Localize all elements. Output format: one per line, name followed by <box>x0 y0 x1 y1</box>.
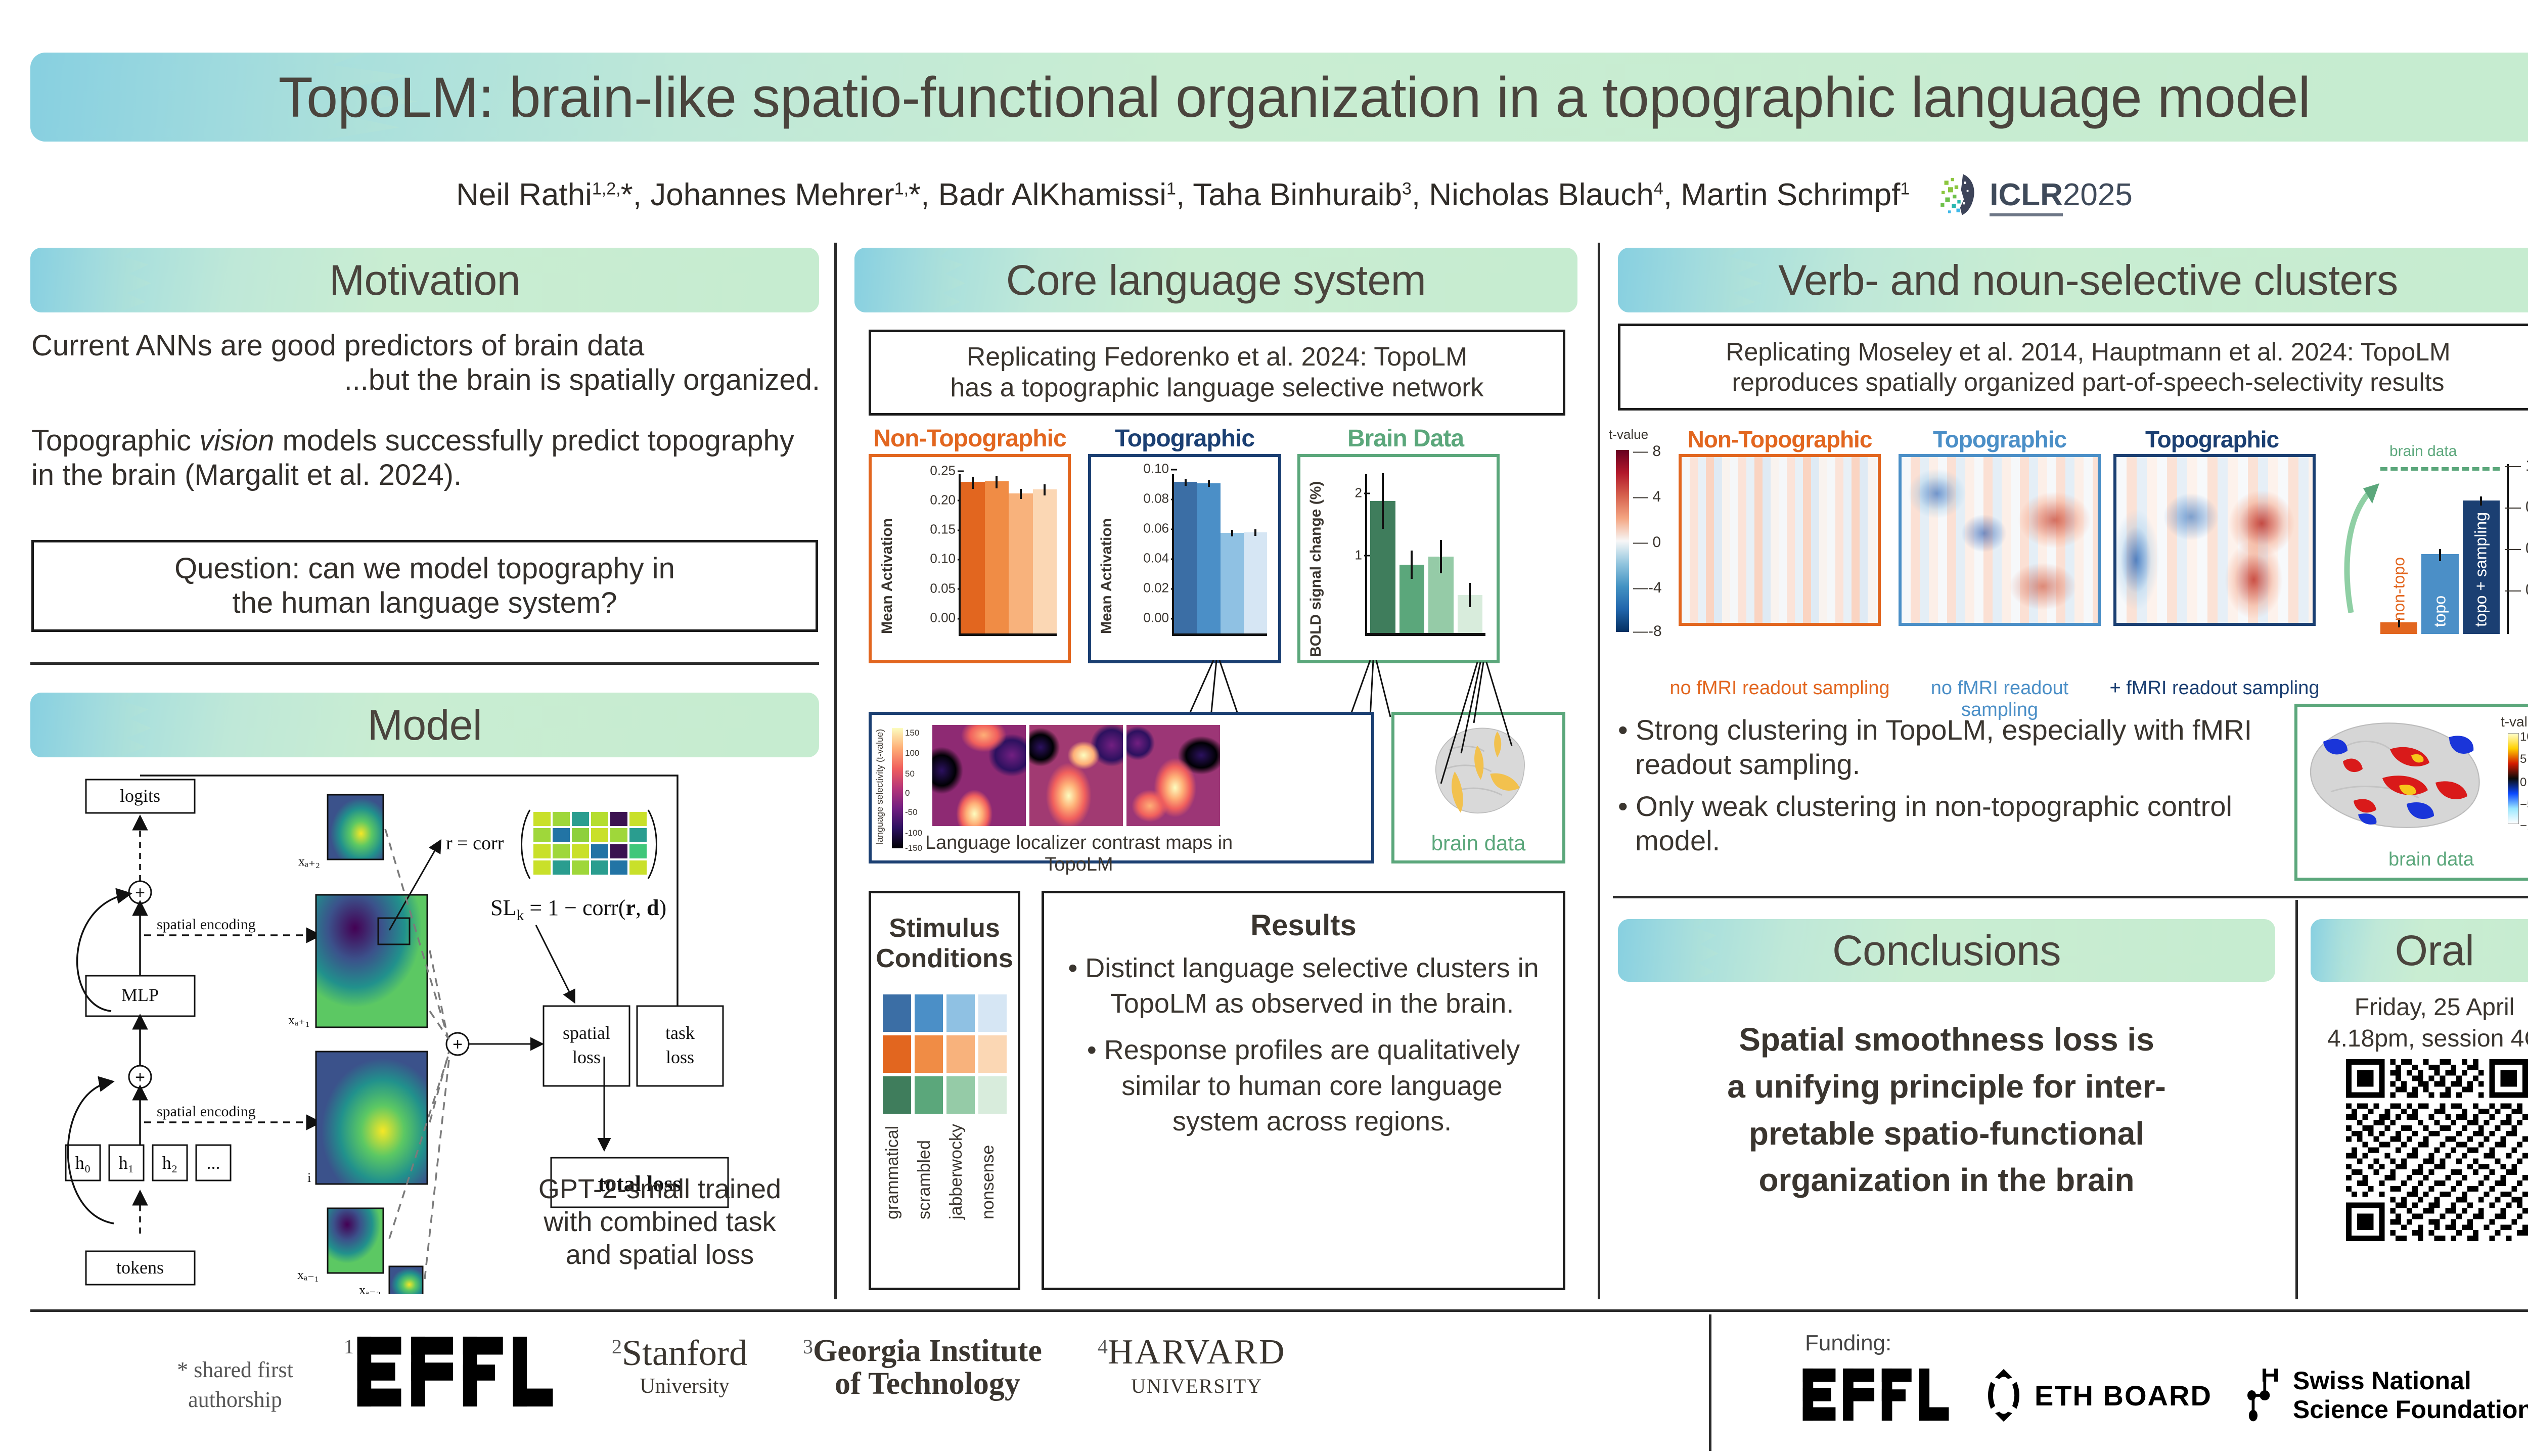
bar <box>1458 595 1483 633</box>
svg-text:+: + <box>135 883 145 902</box>
verbnoun-caption-toposamp: + fMRI readout sampling <box>2108 677 2321 699</box>
svg-text:spatial encoding: spatial encoding <box>157 916 256 933</box>
conclusions-line3: pretable spatio-functional <box>1618 1110 2275 1157</box>
swatch <box>978 994 1007 1032</box>
stimulus-conditions-box: Stimulus Conditions grammatical scramble… <box>869 891 1020 1290</box>
eth-board-label: ETH BOARD <box>2035 1379 2212 1412</box>
svg-text:xₐ₊₁: xₐ₊₁ <box>288 1013 310 1027</box>
model-header: Model <box>30 693 819 757</box>
ytick: 0.20 <box>930 492 956 508</box>
verbnoun-heatmap-nontopo <box>1679 454 1881 626</box>
results-bullet: • Distinct language selective clusters i… <box>1062 950 1545 1021</box>
swatch <box>883 1035 911 1073</box>
verbnoun-colorbar <box>1616 450 1629 632</box>
stimulus-title-line2: Conditions <box>876 944 1013 974</box>
ytick: 0.05 <box>930 580 956 596</box>
core-panel-label-nontopo: Non-Topographic <box>856 425 1084 452</box>
svg-text:h₂: h₂ <box>162 1153 178 1173</box>
conclusions-line2: a unifying principle for inter- <box>1618 1063 2275 1110</box>
snsf-network-icon <box>2242 1365 2283 1426</box>
conclusions-body: Spatial smoothness loss is a unifying pr… <box>1618 1016 2275 1204</box>
iclr-brain-icon <box>1936 171 1982 218</box>
iclr-label: ICLR2025 <box>1990 177 2133 213</box>
eth-board-diamond-icon <box>1982 1368 2025 1423</box>
conclusions-line1: Spatial smoothness loss is <box>1618 1016 2275 1063</box>
bar <box>1174 482 1197 633</box>
autocorr-brain-ref-label: brain data <box>2389 443 2457 460</box>
bar: topo + sampling <box>2463 500 2500 634</box>
svg-text:r = corr: r = corr <box>446 833 504 854</box>
conclusions-header: Conclusions <box>1618 919 2275 982</box>
core-heading: Core language system <box>1006 256 1426 305</box>
motivation-body: Current ANNs are good predictors of brai… <box>31 329 820 492</box>
verbnoun-brain-caption: brain data <box>2388 849 2474 871</box>
snsf-line2: Science Foundation <box>2293 1395 2528 1425</box>
results-bullet: • Response profiles are qualitatively si… <box>1062 1032 1545 1139</box>
svg-text:xₐ₊₂: xₐ₊₂ <box>298 854 320 869</box>
model-heading: Model <box>368 701 482 750</box>
autocorr-bars: non-topo topo topo + sampling <box>2380 467 2500 634</box>
core-header: Core language system <box>854 248 1577 312</box>
footer-affiliations: 1 2 Stanford University 3 Georgia Instit… <box>344 1335 1658 1410</box>
verbnoun-claim-line2: reproduces spatially organized part-of-s… <box>1732 367 2445 397</box>
svg-text:loss: loss <box>572 1047 601 1067</box>
bar <box>1197 483 1221 633</box>
verbnoun-colorbar-label: t-value <box>1609 427 1648 442</box>
question-line1: Question: can we model topography in <box>174 552 675 586</box>
motivation-para1-line1: Current ANNs are good predictors of brai… <box>31 329 820 363</box>
model-caption-line3: and spatial loss <box>513 1239 806 1271</box>
svg-text:SLk = 1 − corr(r, d): SLk = 1 − corr(r, d) <box>490 895 666 924</box>
footer-divider <box>30 1309 2528 1312</box>
motivation-para1: Current ANNs are good predictors of brai… <box>31 329 820 397</box>
bar <box>1244 532 1267 633</box>
conclusions-oral-divider <box>2295 900 2298 1299</box>
author-list: Neil Rathi1,2,*, Johannes Mehrer1,*, Bad… <box>0 167 2528 222</box>
column-divider-left <box>834 243 837 1299</box>
svg-text:spatial encoding: spatial encoding <box>157 1103 256 1120</box>
footer-funders: ETH BOARD Swiss National Science Foundat… <box>1800 1365 2528 1426</box>
question-line2: the human language system? <box>233 586 617 620</box>
verbnoun-caption-nontopo: no fMRI readout sampling <box>1668 677 1891 699</box>
bar <box>1009 493 1033 633</box>
verbnoun-bullet: • Strong clustering in TopoLM, especiall… <box>1618 713 2255 782</box>
core-brain-caption: brain data <box>1394 831 1562 855</box>
svg-text:+: + <box>135 1068 145 1087</box>
affiliation-name: Georgia Institute <box>813 1335 1042 1368</box>
svg-text:+: + <box>453 1035 463 1054</box>
chart-topo-ylabel: Mean Activation <box>1098 482 1115 634</box>
bar <box>1033 489 1057 633</box>
affiliation-epfl: 1 <box>344 1335 556 1410</box>
conclusions-heading: Conclusions <box>1832 926 2061 975</box>
condition-label: grammatical <box>883 1124 911 1219</box>
motivation-para2-pre: Topographic <box>31 424 199 457</box>
snsf-logo: Swiss National Science Foundation <box>2242 1365 2528 1426</box>
swatch <box>915 994 943 1032</box>
chart-topo-activation: Mean Activation 0.00 0.02 0.04 0.06 0.08… <box>1088 454 1281 663</box>
core-results-box: Results • Distinct language selective cl… <box>1042 891 1565 1290</box>
conclusions-line4: organization in the brain <box>1618 1157 2275 1204</box>
svg-text:MLP: MLP <box>121 985 159 1005</box>
model-caption: GPT-2-small trained with combined task a… <box>513 1173 806 1271</box>
verbnoun-claim-line1: Replicating Moseley et al. 2014, Hauptma… <box>1726 337 2450 367</box>
verbnoun-label-topo: Topographic <box>1901 426 2098 453</box>
affiliation-sub: UNIVERSITY <box>1108 1374 1286 1398</box>
svg-text:loss: loss <box>666 1047 694 1067</box>
verbnoun-bullets: • Strong clustering in TopoLM, especiall… <box>1618 713 2255 858</box>
footer-funding-label: Funding: <box>1805 1331 1891 1356</box>
svg-text:task: task <box>665 1023 695 1043</box>
epfl-funder-logo-icon <box>1800 1367 1952 1424</box>
chart-spatial-autocorrelation: brain data non-topo topo topo + sampling… <box>2346 445 2528 647</box>
swatch <box>883 1076 911 1114</box>
model-caption-line1: GPT-2-small trained <box>513 1173 806 1206</box>
ytick: 0.10 <box>930 551 956 567</box>
bar-label: topo <box>2430 596 2449 627</box>
core-claim-line1: Replicating Fedorenko et al. 2024: TopoL… <box>967 342 1468 373</box>
bar: non-topo <box>2380 622 2417 634</box>
localizer-map-3 <box>1126 725 1220 826</box>
affiliation-georgia-tech: 3 Georgia Institute of Technology <box>803 1335 1042 1400</box>
swatch <box>915 1076 943 1114</box>
epfl-logo-icon <box>354 1335 556 1410</box>
svg-text:...: ... <box>207 1153 220 1173</box>
affiliation-harvard: 4 HARVARD UNIVERSITY <box>1098 1335 1286 1398</box>
ytick: 0.15 <box>930 522 956 537</box>
stimulus-condition-labels: grammatical scrambled jabberwocky nonsen… <box>883 1124 1007 1219</box>
swatch <box>946 1035 975 1073</box>
chart-nontopo-ylabel: Mean Activation <box>879 482 896 634</box>
svg-text:h₀: h₀ <box>75 1153 91 1173</box>
chart-nontopo-activation: Mean Activation 0.00 0.05 0.10 0.15 0.20… <box>869 454 1071 663</box>
verbnoun-brain-colorbar-ticks: 105 0−5 −10 <box>2520 730 2528 826</box>
condition-label: jabberwocky <box>946 1124 975 1219</box>
shared-line1: * shared first <box>152 1355 319 1385</box>
bar <box>985 481 1009 633</box>
motivation-question-box: Question: can we model topography in the… <box>31 540 818 632</box>
ytick: 2 <box>1355 485 1362 500</box>
verbnoun-colorbar-ticks: — 8— 4 — 0—-4 —-8 <box>1633 450 1668 632</box>
verbnoun-claim-box: Replicating Moseley et al. 2014, Hauptma… <box>1618 324 2528 411</box>
stimulus-title-line1: Stimulus <box>889 914 1000 944</box>
poster-title-banner: TopoLM: brain-like spatio-functional org… <box>30 53 2528 142</box>
swatch <box>883 994 911 1032</box>
ytick: 0.04 <box>1143 551 1169 566</box>
model-diagram: logits MLP tokens h₀ h₁ h₂ ... ++ ++ <box>35 768 819 1294</box>
autocorr-green-arrow-icon <box>2341 463 2386 615</box>
footer-vertical-divider <box>1709 1314 1711 1451</box>
results-title: Results <box>1062 908 1545 942</box>
svg-text:i: i <box>307 1170 311 1185</box>
svg-text:spatial: spatial <box>563 1023 610 1043</box>
motivation-header: Motivation <box>30 248 819 312</box>
oral-date: Friday, 25 April <box>2311 992 2528 1023</box>
localizer-colorbar <box>892 728 903 848</box>
authors-text: Neil Rathi1,2,*, Johannes Mehrer1,*, Bad… <box>456 177 1910 213</box>
motivation-para2: Topographic vision models successfully p… <box>31 424 820 492</box>
page-title: TopoLM: brain-like spatio-functional org… <box>279 65 2311 130</box>
verbnoun-brain-tvalue-label: t-value <box>2501 714 2528 730</box>
verbnoun-heading: Verb- and noun-selective clusters <box>1778 256 2398 305</box>
chart-topo-plot: 0.00 0.02 0.04 0.06 0.08 0.10 <box>1172 474 1267 636</box>
bar: topo <box>2421 554 2458 634</box>
affiliation-sub: of Technology <box>813 1368 1042 1400</box>
motivation-model-divider <box>30 662 819 665</box>
column-divider-right <box>1598 243 1600 1299</box>
bar <box>1400 565 1425 633</box>
autocorr-plot: non-topo topo topo + sampling — 1.00 — 0… <box>2380 467 2500 634</box>
swatch <box>978 1035 1007 1073</box>
affiliation-name: HARVARD <box>1108 1335 1286 1370</box>
core-panel-label-topo: Topographic <box>1086 425 1283 452</box>
motivation-para2-em: vision <box>199 424 274 457</box>
ytick: 1 <box>1355 547 1362 563</box>
ytick: 0.00 <box>1143 610 1169 626</box>
chart-nontopo-plot: 0.00 0.05 0.10 0.15 0.20 0.25 <box>959 474 1057 636</box>
footer-shared-authorship: * shared first authorship <box>152 1355 319 1415</box>
bar <box>1428 557 1454 633</box>
oral-header: Oral <box>2311 919 2528 982</box>
verbnoun-label-toposamp: Topographic <box>2113 426 2311 453</box>
bar <box>1370 501 1395 633</box>
svg-text:h₁: h₁ <box>119 1153 134 1173</box>
swatch <box>978 1076 1007 1114</box>
localizer-maps-panel: language selectivity (t-value) 150100 50… <box>869 712 1374 863</box>
swatch <box>946 1076 975 1114</box>
localizer-colorbar-ticks: 150100 500 -50-100 -150 <box>905 728 931 848</box>
eth-board-logo: ETH BOARD <box>1982 1368 2212 1423</box>
oral-heading: Oral <box>2395 926 2474 975</box>
verbnoun-label-nontopo: Non-Topographic <box>1674 426 1886 453</box>
bar-label: topo + sampling <box>2472 512 2491 627</box>
motivation-para1-line2: ...but the brain is spatially organized. <box>31 363 820 397</box>
oral-time: 4.18pm, session 4C <box>2311 1023 2528 1055</box>
autocorr-yticks: — 1.00 — 0.75 — 0.50 — 0.25 <box>2505 467 2528 634</box>
svg-text:logits: logits <box>120 786 160 806</box>
ytick: 0.00 <box>930 610 956 626</box>
affiliation-name: Stanford <box>622 1335 747 1371</box>
stimulus-swatch-grid <box>883 994 1007 1114</box>
ytick: 0.10 <box>1143 461 1169 477</box>
localizer-map-1 <box>932 725 1026 826</box>
verbnoun-brain-panel: t-value 105 0−5 −10 brain data <box>2294 704 2528 881</box>
svg-text:xₐ₋₁: xₐ₋₁ <box>297 1267 319 1282</box>
chart-brain-plot: 1 2 <box>1365 474 1485 636</box>
bar-label: non-topo <box>2389 557 2408 621</box>
brain-activation-map-icon <box>2300 711 2498 835</box>
verbnoun-conclusions-divider <box>1613 896 2528 898</box>
verbnoun-heatmap-toposamp <box>2113 454 2316 626</box>
core-claim-box: Replicating Fedorenko et al. 2024: TopoL… <box>869 330 1565 416</box>
ytick: 0.08 <box>1143 491 1169 507</box>
verbnoun-bullet: • Only weak clustering in non-topographi… <box>1618 789 2255 858</box>
verbnoun-heatmap-topo <box>1899 454 2101 626</box>
localizer-map-2 <box>1029 725 1123 826</box>
snsf-line1: Swiss National <box>2293 1367 2528 1396</box>
condition-label: nonsense <box>978 1124 1007 1219</box>
ytick: 0.02 <box>1143 580 1169 596</box>
verbnoun-brain-colorbar <box>2508 733 2519 824</box>
svg-text:xₐ₋₂: xₐ₋₂ <box>359 1283 381 1294</box>
brain-connector-lines <box>1390 657 1567 789</box>
affiliation-sub: University <box>622 1374 747 1398</box>
oral-details: Friday, 25 April 4.18pm, session 4C <box>2311 992 2528 1055</box>
condition-label: scrambled <box>915 1124 943 1219</box>
swatch <box>946 994 975 1032</box>
affiliation-stanford: 2 Stanford University <box>612 1335 747 1398</box>
svg-text:tokens: tokens <box>116 1257 164 1278</box>
swatch <box>915 1035 943 1073</box>
chart-brain-bold: BOLD signal change (%) 1 2 <box>1297 454 1500 663</box>
model-caption-line2: with combined task <box>513 1206 806 1239</box>
ytick: 0.25 <box>930 463 956 478</box>
shared-line2: authorship <box>152 1385 319 1415</box>
motivation-heading: Motivation <box>329 256 520 305</box>
localizer-maps-caption: Language localizer contrast maps in Topo… <box>922 832 1236 876</box>
core-claim-line2: has a topographic language selective net… <box>950 373 1483 403</box>
localizer-colorbar-label: language selectivity (t-value) <box>875 728 885 844</box>
chart-nontopo-bars <box>961 474 1057 633</box>
iclr-logo: ICLR2025 <box>1936 171 2133 218</box>
chart-brain-ylabel: BOLD signal change (%) <box>1307 465 1325 657</box>
oral-qr-code[interactable] <box>2346 1059 2528 1241</box>
verbnoun-header: Verb- and noun-selective clusters <box>1618 248 2528 312</box>
bar <box>961 482 985 633</box>
bar <box>1221 533 1244 633</box>
core-panel-label-brain: Brain Data <box>1310 425 1502 452</box>
ytick: 0.06 <box>1143 521 1169 536</box>
